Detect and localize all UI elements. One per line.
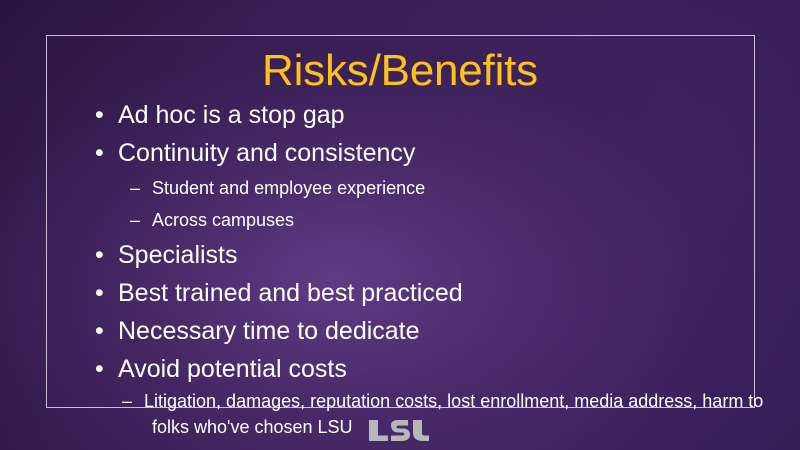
slide-canvas: Risks/Benefits • Ad hoc is a stop gap • …	[0, 0, 800, 450]
list-item: • Ad hoc is a stop gap	[92, 96, 792, 134]
bullet-dot-icon: •	[95, 350, 104, 388]
lsu-logo	[368, 419, 430, 442]
sub-list-item-label: Litigation, damages, reputation costs, l…	[144, 391, 763, 437]
sub-list-item: – Litigation, damages, reputation costs,…	[92, 388, 772, 440]
bullet-dash-icon: –	[130, 204, 140, 236]
bullet-list: • Ad hoc is a stop gap • Continuity and …	[92, 96, 792, 440]
list-item-label: Specialists	[118, 241, 238, 269]
bullet-dot-icon: •	[95, 134, 104, 172]
list-item: • Best trained and best practiced	[92, 274, 792, 312]
sub-list-item-label: Student and employee experience	[152, 178, 425, 198]
list-item-label: Avoid potential costs	[118, 355, 347, 383]
list-item: • Avoid potential costs	[92, 350, 792, 388]
bullet-dot-icon: •	[95, 312, 104, 350]
bullet-dot-icon: •	[95, 236, 104, 274]
bullet-dash-icon: –	[130, 172, 140, 204]
bullet-dot-icon: •	[95, 274, 104, 312]
list-item-label: Best trained and best practiced	[118, 279, 463, 307]
sub-list-item-label: Across campuses	[152, 210, 294, 230]
list-item-label: Necessary time to dedicate	[118, 317, 420, 345]
list-item: • Specialists	[92, 236, 792, 274]
bullet-dot-icon: •	[95, 96, 104, 134]
list-item-label: Continuity and consistency	[118, 139, 415, 167]
slide-title: Risks/Benefits	[0, 46, 800, 96]
bullet-dash-icon: –	[130, 388, 132, 414]
sub-list-item: – Across campuses	[92, 204, 792, 236]
list-item-label: Ad hoc is a stop gap	[118, 101, 345, 129]
list-item: • Necessary time to dedicate	[92, 312, 792, 350]
sub-list-item: – Student and employee experience	[92, 172, 792, 204]
list-item: • Continuity and consistency	[92, 134, 792, 172]
